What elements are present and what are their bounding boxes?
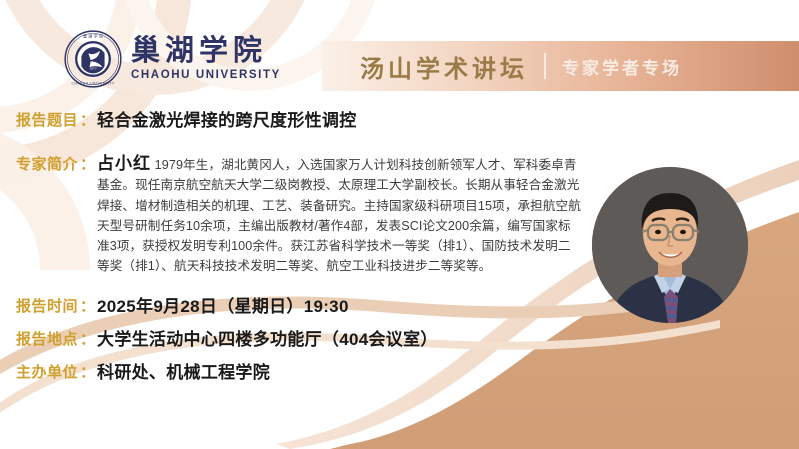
speaker-bio-colon: ： bbox=[78, 154, 97, 176]
host-unit-value: 科研处、机械工程学院 bbox=[97, 362, 270, 384]
speaker-bio-line-4: 准3项，获授权发明专利100余件。获江苏省科学技术一等奖（排1）、国防技术发明二 bbox=[97, 236, 585, 256]
speaker-bio-line-5: 等奖（排1）、航天科技技术发明二等奖、航空工业科技进步二等奖等。 bbox=[97, 256, 585, 276]
speaker-bio-line-0-text: 1979年生，湖北黄冈人，入选国家万人计划科技创新领军人才、军科委卓青 bbox=[155, 158, 577, 172]
speaker-portrait-illustration bbox=[592, 167, 748, 323]
field-speaker-bio: 专家简介 ： 占小红 1979年生，湖北黄冈人，入选国家万人计划科技创新领军人才… bbox=[16, 154, 585, 277]
report-place-label: 报告地点 bbox=[16, 329, 78, 351]
report-title-value: 轻合金激光焊接的跨尺度形性调控 bbox=[97, 110, 357, 132]
report-time-label: 报告时间 bbox=[16, 296, 78, 318]
speaker-portrait-photo bbox=[592, 167, 748, 323]
speaker-bio-body: 占小红 1979年生，湖北黄冈人，入选国家万人计划科技创新领军人才、军科委卓青 … bbox=[97, 154, 585, 277]
report-title-label: 报告题目 bbox=[16, 110, 78, 132]
lecture-poster: 巢 湖 学 院 CHAOHU UNIVERSITY 1977 巢湖学院 CHAO… bbox=[0, 0, 799, 449]
speaker-name: 占小红 bbox=[97, 154, 151, 173]
report-time-value: 2025年9月28日（星期日）19:30 bbox=[97, 296, 349, 318]
field-report-time: 报告时间 ： 2025年9月28日（星期日）19:30 bbox=[16, 296, 349, 318]
report-title-colon: ： bbox=[78, 110, 97, 132]
host-unit-colon: ： bbox=[78, 362, 97, 384]
field-report-title: 报告题目 ： 轻合金激光焊接的跨尺度形性调控 bbox=[16, 110, 357, 132]
report-place-value: 大学生活动中心四楼多功能厅（404会议室） bbox=[97, 329, 438, 351]
field-report-place: 报告地点 ： 大学生活动中心四楼多功能厅（404会议室） bbox=[16, 329, 438, 351]
speaker-bio-line-1: 基金。现任南京航空航天大学二级岗教授、太原理工大学副校长。长期从事轻合金激光 bbox=[97, 175, 585, 195]
speaker-bio-line-3: 天型号研制任务10余项，主编出版教材/著作4部，发表SCI论文200余篇，编写国… bbox=[97, 216, 585, 236]
speaker-bio-line-2: 焊接、增材制造相关的机理、工艺、装备研究。主持国家级科研项目15项，承担航空航 bbox=[97, 196, 585, 216]
report-time-colon: ： bbox=[78, 296, 97, 318]
host-unit-label: 主办单位 bbox=[16, 362, 78, 384]
report-place-colon: ： bbox=[78, 329, 97, 351]
speaker-bio-label: 专家简介 bbox=[16, 154, 78, 176]
field-host-unit: 主办单位 ： 科研处、机械工程学院 bbox=[16, 362, 270, 384]
speaker-bio-line-0: 占小红 1979年生，湖北黄冈人，入选国家万人计划科技创新领军人才、军科委卓青 bbox=[97, 154, 585, 175]
